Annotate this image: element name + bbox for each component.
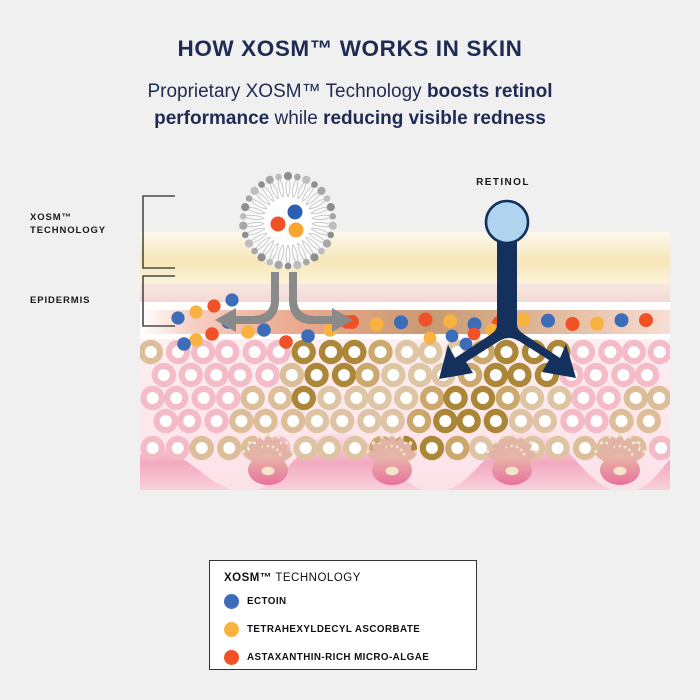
bracket-label-epidermis: EPIDERMIS bbox=[30, 294, 130, 307]
particle-astaxanthin bbox=[566, 317, 580, 331]
retinol-label: RETINOL bbox=[418, 177, 588, 188]
particle-ectoin bbox=[177, 337, 191, 351]
legend-item-tetrahexyldecyl-ascorbate: TETRAHEXYLDECYL ASCORBATE bbox=[224, 622, 420, 637]
particle-ectoin bbox=[615, 313, 629, 327]
legend-swatch-tetrahexyldecyl-ascorbate bbox=[224, 622, 239, 637]
particle-astaxanthin bbox=[419, 313, 433, 327]
particle-ectoin bbox=[171, 311, 184, 324]
legend-swatch-ectoin bbox=[224, 594, 239, 609]
bracket-label-xosm-line1: XOSM™ bbox=[30, 211, 130, 224]
particle-astaxanthin-core bbox=[271, 217, 286, 232]
particle-astaxanthin bbox=[205, 327, 219, 341]
particle-ectoin-core bbox=[288, 205, 303, 220]
particle-ascorbate bbox=[370, 317, 384, 331]
particle-ectoin bbox=[301, 329, 315, 343]
legend-title-rest: TECHNOLOGY bbox=[272, 572, 361, 584]
layer-gap-white-2 bbox=[140, 334, 670, 339]
particle-ectoin bbox=[394, 315, 408, 329]
legend-label-tetrahexyldecyl-ascorbate: TETRAHEXYLDECYL ASCORBATE bbox=[247, 624, 420, 635]
retinol-molecule bbox=[486, 201, 528, 243]
page-subtitle: Proprietary XOSM™ Technology boosts reti… bbox=[110, 78, 590, 132]
bracket-label-xosm-line2: TECHNOLOGY bbox=[30, 224, 130, 237]
legend-title: XOSM™ TECHNOLOGY bbox=[224, 572, 361, 584]
legend-item-ectoin: ECTOIN bbox=[224, 594, 287, 609]
particle-ascorbate bbox=[590, 317, 604, 331]
legend-item-astaxanthin-micro-algae: ASTAXANTHIN-RICH MICRO-ALGAE bbox=[224, 650, 429, 665]
subtitle-part1: Proprietary XOSM™ Technology bbox=[147, 81, 427, 102]
cell-mosaic bbox=[139, 340, 674, 460]
legend-swatch-astaxanthin-micro-algae bbox=[224, 650, 239, 665]
particle-ascorbate bbox=[189, 305, 202, 318]
subtitle-bold2: reducing visible redness bbox=[323, 108, 546, 129]
particle-astaxanthin bbox=[468, 328, 481, 341]
legend-label-ectoin: ECTOIN bbox=[247, 596, 287, 607]
particle-astaxanthin bbox=[207, 299, 220, 312]
particle-ascorbate bbox=[517, 313, 531, 327]
particle-ectoin bbox=[446, 330, 459, 343]
particle-ascorbate-core bbox=[289, 223, 304, 238]
particle-ectoin bbox=[225, 293, 238, 306]
particle-ascorbate bbox=[189, 333, 203, 347]
particle-ectoin bbox=[541, 314, 555, 328]
legend-title-bold: XOSM™ bbox=[224, 572, 272, 584]
layer-stratum-corneum bbox=[140, 232, 670, 284]
page-title: HOW XOSM™ WORKS IN SKIN bbox=[0, 36, 700, 62]
legend-label-astaxanthin-micro-algae: ASTAXANTHIN-RICH MICRO-ALGAE bbox=[247, 652, 429, 663]
particle-ascorbate bbox=[443, 314, 457, 328]
bracket-label-xosm-technology: XOSM™ TECHNOLOGY bbox=[30, 211, 130, 237]
particle-ectoin bbox=[257, 323, 271, 337]
particle-ascorbate bbox=[424, 332, 437, 345]
subtitle-part2: while bbox=[269, 108, 323, 129]
particle-ascorbate bbox=[241, 325, 255, 339]
layer-stratum-granulosum bbox=[140, 284, 670, 302]
legend-box: XOSM™ TECHNOLOGY ECTOIN TETRAHEXYLDECYL … bbox=[209, 560, 477, 670]
particle-astaxanthin bbox=[279, 335, 293, 349]
particle-astaxanthin bbox=[639, 313, 653, 327]
